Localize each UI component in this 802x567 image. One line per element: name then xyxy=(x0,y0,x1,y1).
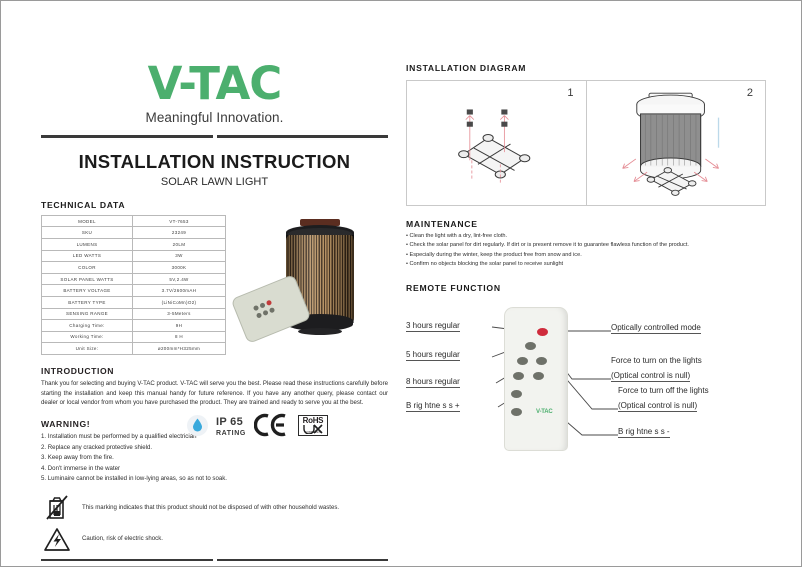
footer-divider xyxy=(41,559,388,562)
list-item: 5. Luminaire cannot be installed in low-… xyxy=(41,474,388,484)
weee-bin-icon xyxy=(41,494,73,522)
label-brightness-up: B rig htne s s + xyxy=(406,401,460,412)
safety-symbols: This marking indicates that this product… xyxy=(41,494,388,552)
list-item: • Confirm no objects blocking the solar … xyxy=(406,260,766,269)
technical-data-table: MODELVT-7653SKU23249LUMENS20LMLED WATTS3… xyxy=(41,215,226,355)
technical-data-heading: TECHNICAL DATA xyxy=(41,200,388,210)
spec-value: 3.7V/2600mAH xyxy=(133,285,226,297)
spec-value: 3-5Meters xyxy=(133,308,226,320)
spec-value: VT-7653 xyxy=(133,215,226,227)
remote-control-illustration[interactable]: V-TAC xyxy=(504,307,568,451)
remote-function-diagram: V-TAC 3 hours regular 5 hours regular 8 … xyxy=(406,301,766,451)
maintenance-list: • Clean the light with a dry, lint-free … xyxy=(406,232,766,270)
divider-left xyxy=(41,135,213,138)
ip-rating-label: RATING xyxy=(216,430,246,437)
spec-value: 3000K xyxy=(133,262,226,274)
spec-key: SKU xyxy=(42,227,133,239)
remote-photo-button xyxy=(256,312,263,319)
remote-photo-power-button xyxy=(266,299,273,306)
installation-diagram: 1 xyxy=(406,80,766,206)
diagram-step-2-number: 2 xyxy=(747,87,753,99)
diagram-step-1-number: 1 xyxy=(567,87,573,99)
rohs-badge: RoHS COMPLIANT xyxy=(298,415,328,436)
lantern-foot xyxy=(298,328,342,335)
remote-photo-button xyxy=(269,307,276,314)
table-row: COLOR3000K xyxy=(42,262,226,274)
remote-photo-button xyxy=(253,305,260,312)
list-item: • Especially during the winter, keep the… xyxy=(406,251,766,260)
remote-function-heading: REMOTE FUNCTION xyxy=(406,283,766,293)
list-item: 3. Keep away from the fire. xyxy=(41,453,388,463)
list-item: 4. Don't immerse in the water xyxy=(41,464,388,474)
label-force-off-line1: Force to turn off the lights xyxy=(618,386,709,395)
remote-button-force-on[interactable] xyxy=(536,357,547,365)
label-5-hours-regular: 5 hours regular xyxy=(406,350,460,361)
introduction-heading: INTRODUCTION xyxy=(41,366,388,376)
page-subtitle: SOLAR LAWN LIGHT xyxy=(41,176,388,188)
spec-value: (LiNiCoMn)O2) xyxy=(133,296,226,308)
table-row: Charging Time:9H xyxy=(42,320,226,332)
water-drop-icon xyxy=(187,415,208,436)
table-row: Working Time:8 H xyxy=(42,331,226,343)
list-item: 2. Replace any cracked protective shield… xyxy=(41,443,388,453)
ip-rating-value: IP 65 xyxy=(216,416,243,428)
left-column: V-TAC Meaningful Innovation. INSTALLATIO… xyxy=(41,53,388,521)
spec-key: Working Time: xyxy=(42,331,133,343)
spec-key: MODEL xyxy=(42,215,133,227)
right-column: INSTALLATION DIAGRAM 1 xyxy=(406,63,766,483)
list-item: • Clean the light with a dry, lint-free … xyxy=(406,232,766,241)
footer-divider-left xyxy=(41,559,213,562)
remote-button-brightness-up[interactable] xyxy=(511,390,522,398)
list-item: • Check the solar panel for dirt regular… xyxy=(406,241,766,250)
spec-value: 23249 xyxy=(133,227,226,239)
remote-button-brightness-down[interactable] xyxy=(511,408,522,416)
table-row: LED WATTS3W xyxy=(42,250,226,262)
spec-value: 8 H xyxy=(133,331,226,343)
spec-key: LUMENS xyxy=(42,238,133,250)
table-row: SKU23249 xyxy=(42,227,226,239)
spec-value: 20LM xyxy=(133,238,226,250)
table-row: SOLAR PANEL WATTS5V,2.4W xyxy=(42,273,226,285)
certification-badges: IP 65 RATING RoHS COMPLIANT xyxy=(187,413,328,437)
introduction-text: Thank you for selecting and buying V-TAC… xyxy=(41,379,388,409)
instruction-sheet-page: V-TAC Meaningful Innovation. INSTALLATIO… xyxy=(0,0,802,567)
label-force-on-line1: Force to turn on the lights xyxy=(611,356,702,365)
spec-key: Unit Size: xyxy=(42,343,133,355)
remote-button-8h[interactable] xyxy=(513,372,524,380)
table-row: MODELVT-7653 xyxy=(42,215,226,227)
footer-divider-right xyxy=(217,559,389,562)
label-force-on-line2: (Optical control is null) xyxy=(611,371,690,382)
warning-list: 1. Installation must be performed by a q… xyxy=(41,432,388,484)
header-divider xyxy=(41,135,388,138)
spec-key: LED WATTS xyxy=(42,250,133,262)
rohs-sublabel: COMPLIANT xyxy=(305,430,322,434)
label-3-hours-regular: 3 hours regular xyxy=(406,321,460,332)
leader-lines xyxy=(406,301,766,451)
page-title: INSTALLATION INSTRUCTION xyxy=(41,151,388,173)
remote-button-optical-mode[interactable] xyxy=(537,328,548,336)
ce-mark-icon xyxy=(254,413,290,437)
spec-key: SOLAR PANEL WATTS xyxy=(42,273,133,285)
table-row: LUMENS20LM xyxy=(42,238,226,250)
remote-button-force-off[interactable] xyxy=(533,372,544,380)
electric-shock-icon xyxy=(41,527,73,552)
weee-symbol-text: This marking indicates that this product… xyxy=(82,503,339,513)
spec-value: 9H xyxy=(133,320,226,332)
electric-shock-symbol-text: Caution, risk of electric shock. xyxy=(82,534,163,544)
remote-button-5h[interactable] xyxy=(517,357,528,365)
ground-spike-bracket-illustration xyxy=(407,81,586,205)
spec-key: SENSING RANGE xyxy=(42,308,133,320)
maintenance-heading: MAINTENANCE xyxy=(406,219,766,229)
symbol-row-shock: Caution, risk of electric shock. xyxy=(41,527,388,552)
spec-value: ø200mm*H325mm xyxy=(133,343,226,355)
spec-key: Charging Time: xyxy=(42,320,133,332)
brand-tagline: Meaningful Innovation. xyxy=(41,110,388,125)
vtac-logo-text: V-TAC xyxy=(41,63,388,106)
ip-rating-badge: IP 65 RATING xyxy=(216,413,246,437)
lantern-mounting-illustration xyxy=(587,81,766,205)
symbol-row-weee: This marking indicates that this product… xyxy=(41,494,388,522)
label-8-hours-regular: 8 hours regular xyxy=(406,377,460,388)
table-row: BATTERY TYPE(LiNiCoMn)O2) xyxy=(42,296,226,308)
label-force-off-line2: (Optical control is null) xyxy=(618,401,697,412)
product-photo xyxy=(231,211,386,361)
remote-photo-button xyxy=(262,309,269,316)
spec-value: 3W xyxy=(133,250,226,262)
remote-button-3h[interactable] xyxy=(525,342,536,350)
diagram-step-1: 1 xyxy=(407,81,586,205)
technical-data-area: MODELVT-7653SKU23249LUMENS20LMLED WATTS3… xyxy=(41,215,388,355)
table-row: Unit Size:ø200mm*H325mm xyxy=(42,343,226,355)
label-optically-controlled-mode: Optically controlled mode xyxy=(611,323,701,334)
spec-key: COLOR xyxy=(42,262,133,274)
installation-diagram-heading: INSTALLATION DIAGRAM xyxy=(406,63,766,73)
spec-key: BATTERY VOLTAGE xyxy=(42,285,133,297)
remote-photo-button xyxy=(259,302,266,309)
spec-key: BATTERY TYPE xyxy=(42,296,133,308)
label-brightness-down: B rig htne s s - xyxy=(618,427,670,438)
table-row: SENSING RANGE3-5Meters xyxy=(42,308,226,320)
remote-vtac-logo: V-TAC xyxy=(536,409,553,415)
divider-right xyxy=(217,135,389,138)
brand-logo: V-TAC Meaningful Innovation. xyxy=(41,53,388,125)
spec-value: 5V,2.4W xyxy=(133,273,226,285)
diagram-step-2: 2 xyxy=(586,81,766,205)
table-row: BATTERY VOLTAGE3.7V/2600mAH xyxy=(42,285,226,297)
